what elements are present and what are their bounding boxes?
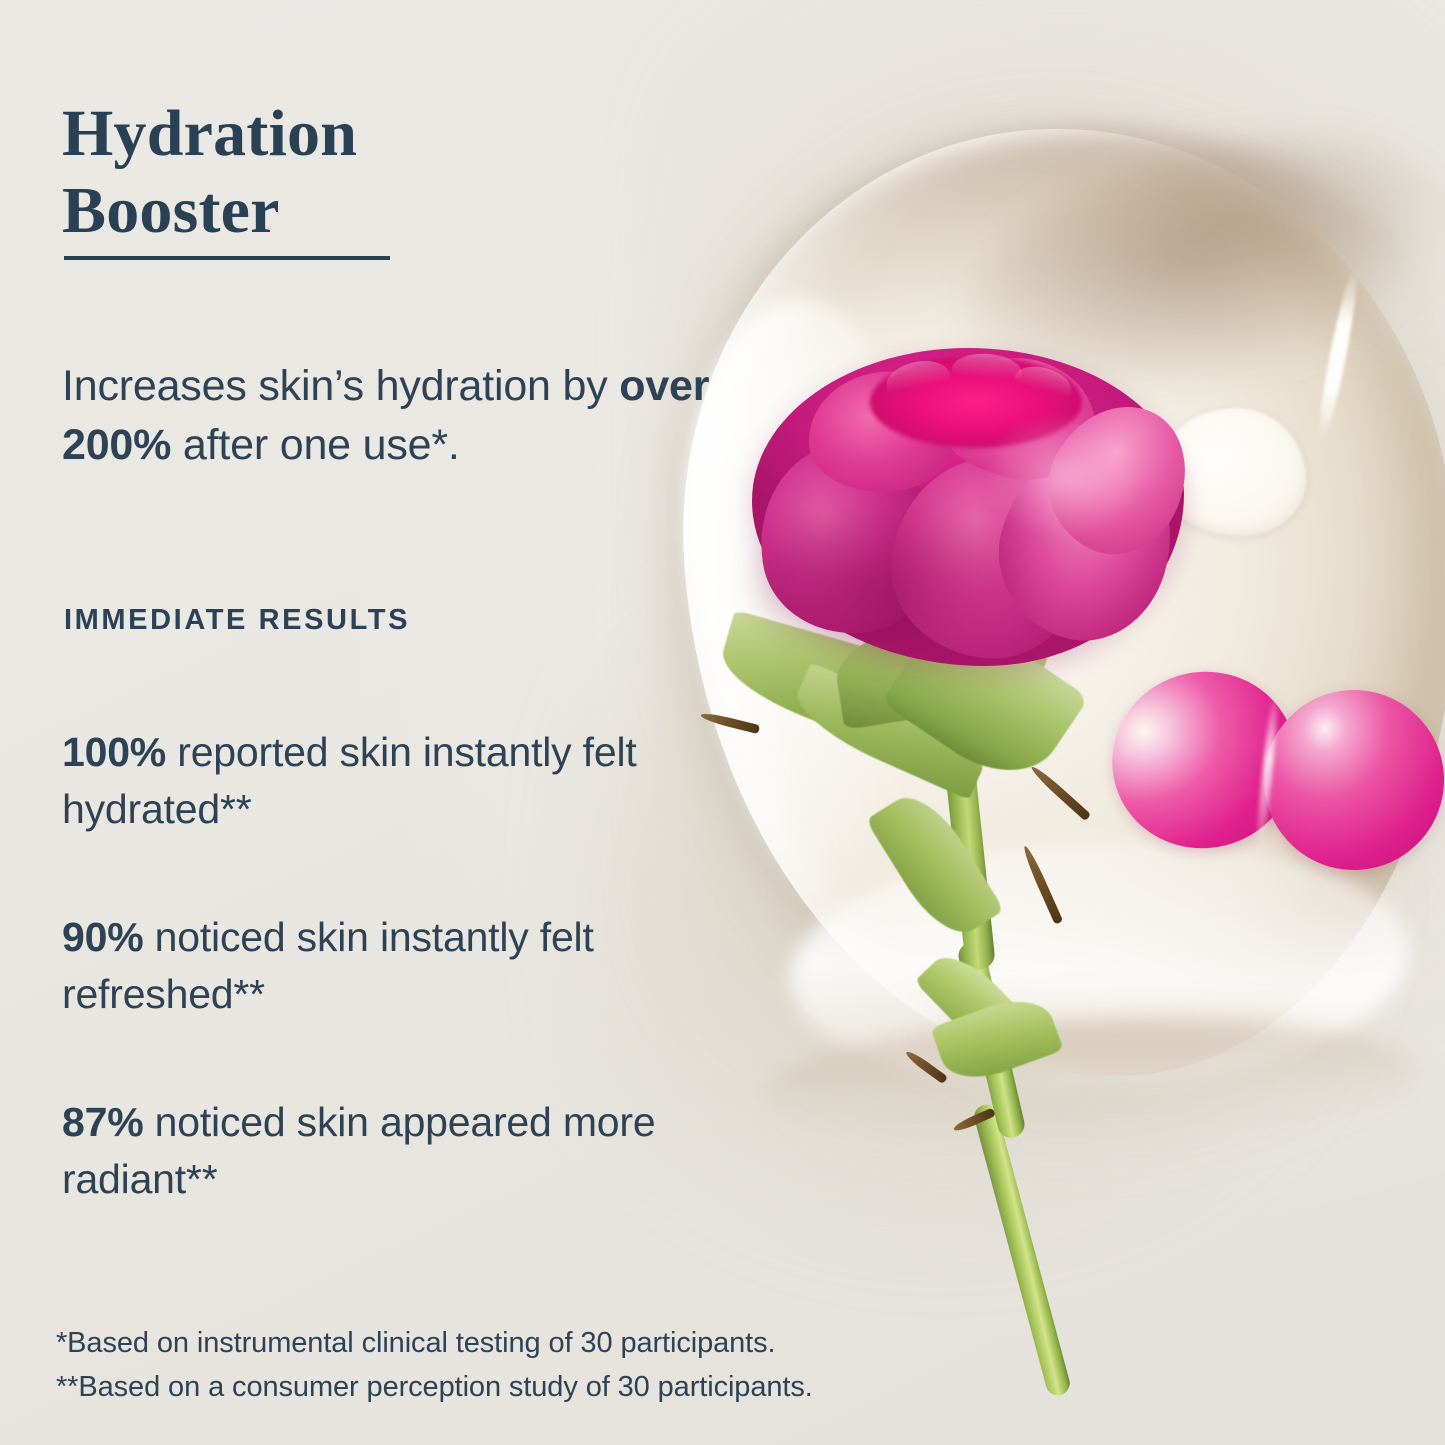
result-stat-1-percent: 100% (62, 729, 166, 775)
hydration-claim: Increases skin’s hydration by over 200% … (62, 357, 822, 476)
title-divider (64, 256, 390, 260)
claims-text-content: HydrationBooster Increases skin’s hydrat… (0, 0, 1445, 1445)
result-stat-2-percent: 90% (62, 914, 143, 960)
product-claims-graphic: HydrationBooster Increases skin’s hydrat… (0, 0, 1445, 1445)
footnotes: *Based on instrumental clinical testing … (56, 1322, 1036, 1409)
result-stat-3-description: noticed skin appeared more radiant** (62, 1099, 655, 1202)
hydration-claim-prefix: Increases skin’s hydration by (62, 362, 619, 410)
footnote-single-asterisk: *Based on instrumental clinical testing … (56, 1322, 1036, 1366)
page-title-line-1: Hydration (62, 97, 357, 170)
result-stat-2: 90% noticed skin instantly felt refreshe… (62, 909, 762, 1024)
immediate-results-heading: IMMEDIATE RESULTS (64, 604, 410, 637)
footnote-double-asterisk: **Based on a consumer perception study o… (56, 1366, 1036, 1410)
result-stat-3: 87% noticed skin appeared more radiant** (62, 1094, 762, 1209)
page-title: HydrationBooster (62, 96, 682, 249)
result-stat-1: 100% reported skin instantly felt hydrat… (62, 724, 762, 839)
page-title-line-2: Booster (62, 174, 280, 247)
hydration-claim-suffix: after one use*. (171, 421, 459, 469)
result-stat-3-percent: 87% (62, 1099, 143, 1145)
